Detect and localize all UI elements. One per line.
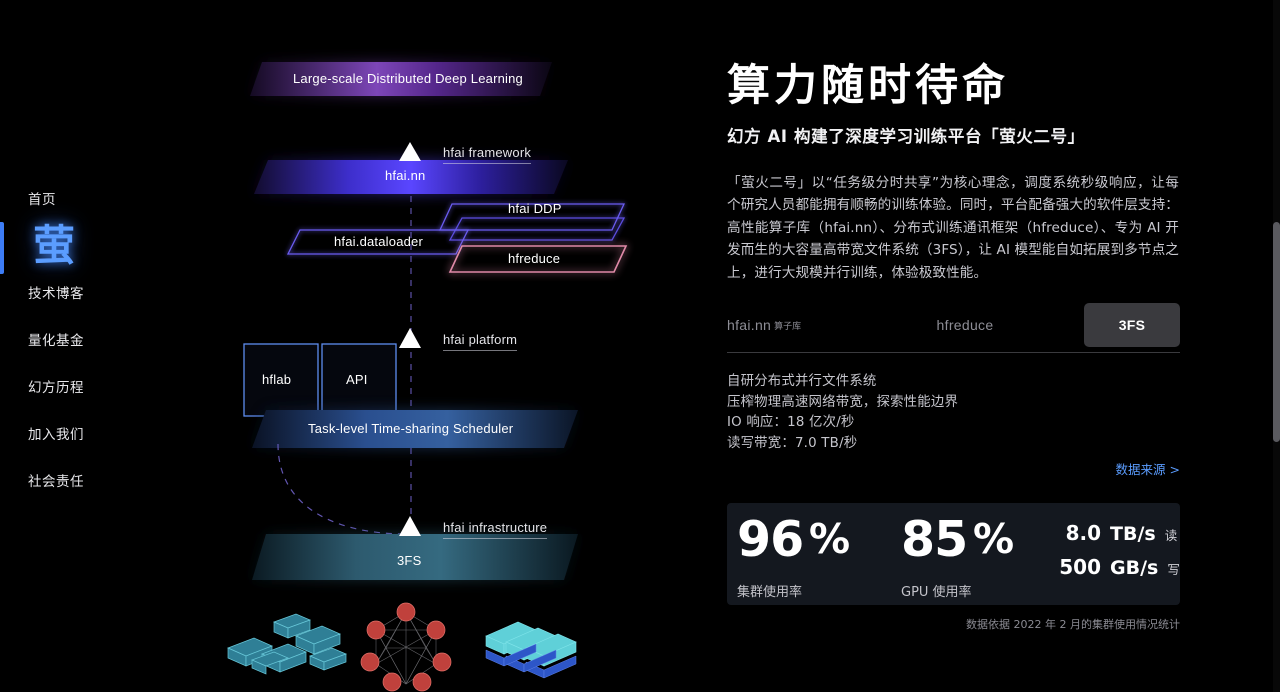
stat-cluster-caption: 集群使用率 (737, 581, 802, 600)
stat-read-bandwidth: 8.0 TB/s 读 (1057, 521, 1177, 545)
sidebar-item-quant-fund[interactable]: 量化基金 (28, 329, 84, 349)
stat-gpu-unit: % (973, 519, 1014, 560)
stat-gpu-caption: GPU 使用率 (901, 581, 972, 600)
stat-write-bandwidth: 500 GB/s 写 (1057, 555, 1180, 579)
diagram-label-hfai-ddp: hfai DDP (508, 201, 562, 216)
content-panel: 算力随时待命 幻方 AI 构建了深度学习训练平台「萤火二号」 「萤火二号」以“任… (727, 0, 1180, 692)
diagram-banner-label: Large-scale Distributed Deep Learning (293, 71, 523, 86)
diagram-label-hfreduce: hfreduce (508, 251, 560, 266)
diagram-annotation-infrastructure: hfai infrastructure (443, 520, 547, 539)
diagram-label-hfai-dataloader: hfai.dataloader (334, 234, 423, 249)
tab-hfai-nn-superscript: 算子库 (774, 319, 801, 332)
sidebar-item-social-responsibility[interactable]: 社会责任 (28, 470, 84, 490)
connector-arc (278, 444, 406, 534)
spec-line-1: 自研分布式并行文件系统 (727, 372, 1180, 393)
sidebar-item-history[interactable]: 幻方历程 (28, 376, 84, 396)
tab-hfreduce[interactable]: hfreduce (895, 303, 1035, 347)
stat-read-unit: TB/s (1110, 523, 1156, 545)
tab-3fs[interactable]: 3FS (1084, 303, 1180, 347)
stats-card: 96 % 集群使用率 85 % GPU 使用率 8.0 TB/s 读 500 G… (727, 503, 1180, 605)
diagram-annotation-platform: hfai platform (443, 332, 517, 351)
stats-footnote: 数据依据 2022 年 2 月的集群使用情况统计 (966, 616, 1180, 632)
node-mesh-illustration (361, 603, 451, 691)
spec-line-2: 压榨物理高速网络带宽，探索性能边界 (727, 393, 1180, 414)
stat-cluster-value: 96 (737, 515, 803, 564)
sidebar-item-home[interactable]: 首页 (28, 188, 56, 208)
firefly-logo-icon[interactable]: 萤 (30, 218, 78, 274)
product-tabs: hfai.nn 算子库 hfreduce 3FS (727, 303, 1180, 347)
sidebar-nav: 首页 萤 技术博客 量化基金 幻方历程 加入我们 社会责任 (0, 0, 200, 692)
spec-line-3: IO 响应：18 亿次/秒 (727, 413, 1180, 434)
page-subtitle: 幻方 AI 构建了深度学习训练平台「萤火二号」 (727, 123, 1085, 147)
tab-hfai-nn-label: hfai.nn (727, 317, 771, 333)
page-title: 算力随时待命 (727, 62, 1009, 110)
stat-bandwidth: 8.0 TB/s 读 500 GB/s 写 (1057, 503, 1180, 605)
marker-infrastructure-triangle (399, 516, 421, 536)
sidebar-active-accent (0, 222, 4, 274)
sidebar-item-join-us[interactable]: 加入我们 (28, 423, 84, 443)
stat-read-value: 8.0 (1057, 521, 1101, 545)
spec-list: 自研分布式并行文件系统 压榨物理高速网络带宽，探索性能边界 IO 响应：18 亿… (727, 372, 1180, 454)
server-racks-illustration (486, 622, 576, 678)
architecture-diagram: Large-scale Distributed Deep Learning hf… (200, 0, 700, 692)
spec-line-4: 读写带宽：7.0 TB/秒 (727, 434, 1180, 455)
sidebar-item-tech-blog[interactable]: 技术博客 (28, 282, 84, 302)
page-scrollbar-thumb[interactable] (1273, 222, 1280, 442)
stat-cluster-utilization: 96 % 集群使用率 (727, 503, 897, 605)
diagram-label-3fs: 3FS (397, 553, 421, 568)
diagram-label-hfai-nn: hfai.nn (385, 168, 425, 183)
diagram-label-scheduler: Task-level Time-sharing Scheduler (308, 421, 513, 436)
stat-gpu-value: 85 (901, 515, 967, 564)
stat-read-tag: 读 (1165, 525, 1178, 544)
diagram-label-hflab: hflab (262, 372, 291, 387)
marker-platform-triangle (399, 328, 421, 348)
stat-gpu-utilization: 85 % GPU 使用率 (897, 503, 1057, 605)
page-root: 首页 萤 技术博客 量化基金 幻方历程 加入我们 社会责任 (0, 0, 1280, 692)
description-paragraph: 「萤火二号」以“任务级分时共享”为核心理念，调度系统秒级响应，让每个研究人员都能… (727, 172, 1179, 284)
stat-write-tag: 写 (1167, 559, 1180, 578)
tabs-divider (727, 352, 1180, 353)
page-scrollbar[interactable] (1273, 0, 1280, 692)
diagram-label-api: API (346, 372, 368, 387)
marker-framework-triangle (399, 142, 421, 161)
stat-write-value: 500 (1057, 555, 1101, 579)
storage-blocks-illustration (228, 614, 346, 674)
stat-write-unit: GB/s (1110, 557, 1158, 579)
stat-cluster-unit: % (809, 519, 850, 560)
tab-hfai-nn[interactable]: hfai.nn 算子库 (727, 303, 857, 347)
diagram-annotation-framework: hfai framework (443, 145, 531, 164)
data-source-link[interactable]: 数据来源 > (1116, 459, 1180, 478)
